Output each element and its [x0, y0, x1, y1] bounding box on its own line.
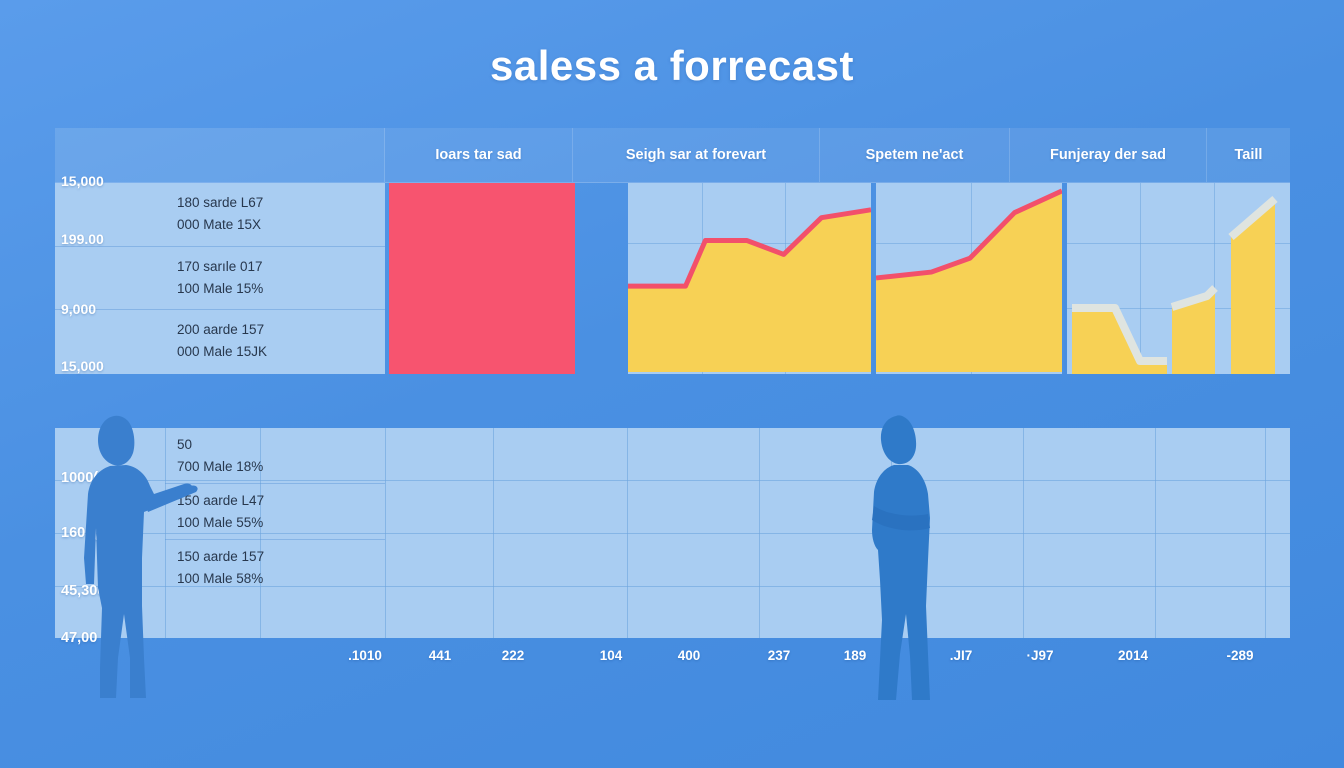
info-row: 150 aarde 157 100 Male 58%	[165, 540, 385, 596]
panel-ioars-tar-sad[interactable]	[389, 183, 575, 374]
header-ioars-tar-sad[interactable]: Ioars tar sad	[385, 128, 573, 182]
y-tick-label: 45,300	[61, 583, 105, 599]
y-tick-label: 47,00	[61, 630, 97, 646]
info-line-primary: 150 aarde L47	[177, 490, 385, 512]
top-chart-y-axis: 15,000 199.00 9,000 15,000	[55, 183, 175, 374]
panel-funjeray-der-sad[interactable]	[1067, 183, 1290, 374]
y-tick-label: 9,000	[61, 301, 96, 317]
panel-spetem-neact[interactable]	[876, 183, 1064, 374]
info-row: 50 700 Male 18%	[165, 428, 385, 484]
x-tick-label: -289	[1226, 648, 1253, 663]
header-funjeray-der-sad[interactable]: Funjeray der sad	[1010, 128, 1207, 182]
x-tick-label: ·J97	[1026, 648, 1053, 663]
header-spetem-neact[interactable]: Spetem ne'act	[820, 128, 1010, 182]
bottom-chart-x-axis: .1010 441 222 104 400 237 189 .JI7 ·J97 …	[0, 648, 1344, 672]
x-tick-label: 2014	[1118, 648, 1148, 663]
area-series-spetem	[876, 183, 1062, 372]
x-tick-label: 222	[502, 648, 525, 663]
x-tick-label: .JI7	[950, 648, 973, 663]
x-tick-label: 441	[429, 648, 452, 663]
x-tick-label: 400	[678, 648, 701, 663]
info-line-primary: 150 aarde 157	[177, 546, 385, 568]
bottom-chart[interactable]: 1000( 1600( 45,300 47,00 50 700 Male 18%…	[55, 428, 1290, 638]
info-line-primary: 50	[177, 434, 385, 456]
x-tick-label: 104	[600, 648, 623, 663]
area-series-funjeray	[1067, 183, 1290, 374]
header-blank[interactable]	[55, 128, 385, 182]
top-chart-plot-band: 180 sarde L67 000 Mate 15X 170 sarıle 01…	[55, 183, 1290, 374]
info-line-secondary: 100 Male 55%	[177, 512, 385, 534]
bottom-chart-y-axis: 1000( 1600( 45,300 47,00	[55, 428, 175, 638]
y-tick-label: 1000(	[61, 470, 98, 486]
top-chart-header-row: Ioars tar sad Seigh sar at forevart Spet…	[55, 128, 1290, 183]
info-line-primary: 170 sarıle 017	[177, 256, 385, 278]
info-line-primary: 200 aarde 157	[177, 319, 385, 341]
x-tick-label: 237	[768, 648, 791, 663]
bottom-chart-info-panel: 50 700 Male 18% 150 aarde L47 100 Male 5…	[165, 428, 385, 638]
info-line-secondary: 000 Mate 15X	[177, 214, 385, 236]
header-seigh-sar-at-forevart[interactable]: Seigh sar at forevart	[573, 128, 820, 182]
info-line-secondary: 000 Male 15JK	[177, 341, 385, 363]
y-tick-label: 199.00	[61, 231, 104, 247]
y-tick-label: 1600(	[61, 525, 98, 541]
panel-seigh-sar-at-forevart[interactable]	[628, 183, 873, 374]
y-tick-label: 15,000	[61, 358, 104, 374]
area-series-seigh	[628, 183, 871, 372]
header-taill[interactable]: Taill	[1207, 128, 1290, 182]
x-tick-label: .1010	[348, 648, 382, 663]
info-line-primary: 180 sarde L67	[177, 192, 385, 214]
top-chart: Ioars tar sad Seigh sar at forevart Spet…	[55, 128, 1290, 374]
page-title: saless a forrecast	[0, 42, 1344, 90]
info-row: 150 aarde L47 100 Male 55%	[165, 484, 385, 540]
y-tick-label: 15,000	[61, 173, 104, 189]
x-tick-label: 189	[844, 648, 867, 663]
info-line-secondary: 100 Male 15%	[177, 278, 385, 300]
info-line-secondary: 100 Male 58%	[177, 568, 385, 590]
info-line-secondary: 700 Male 18%	[177, 456, 385, 478]
